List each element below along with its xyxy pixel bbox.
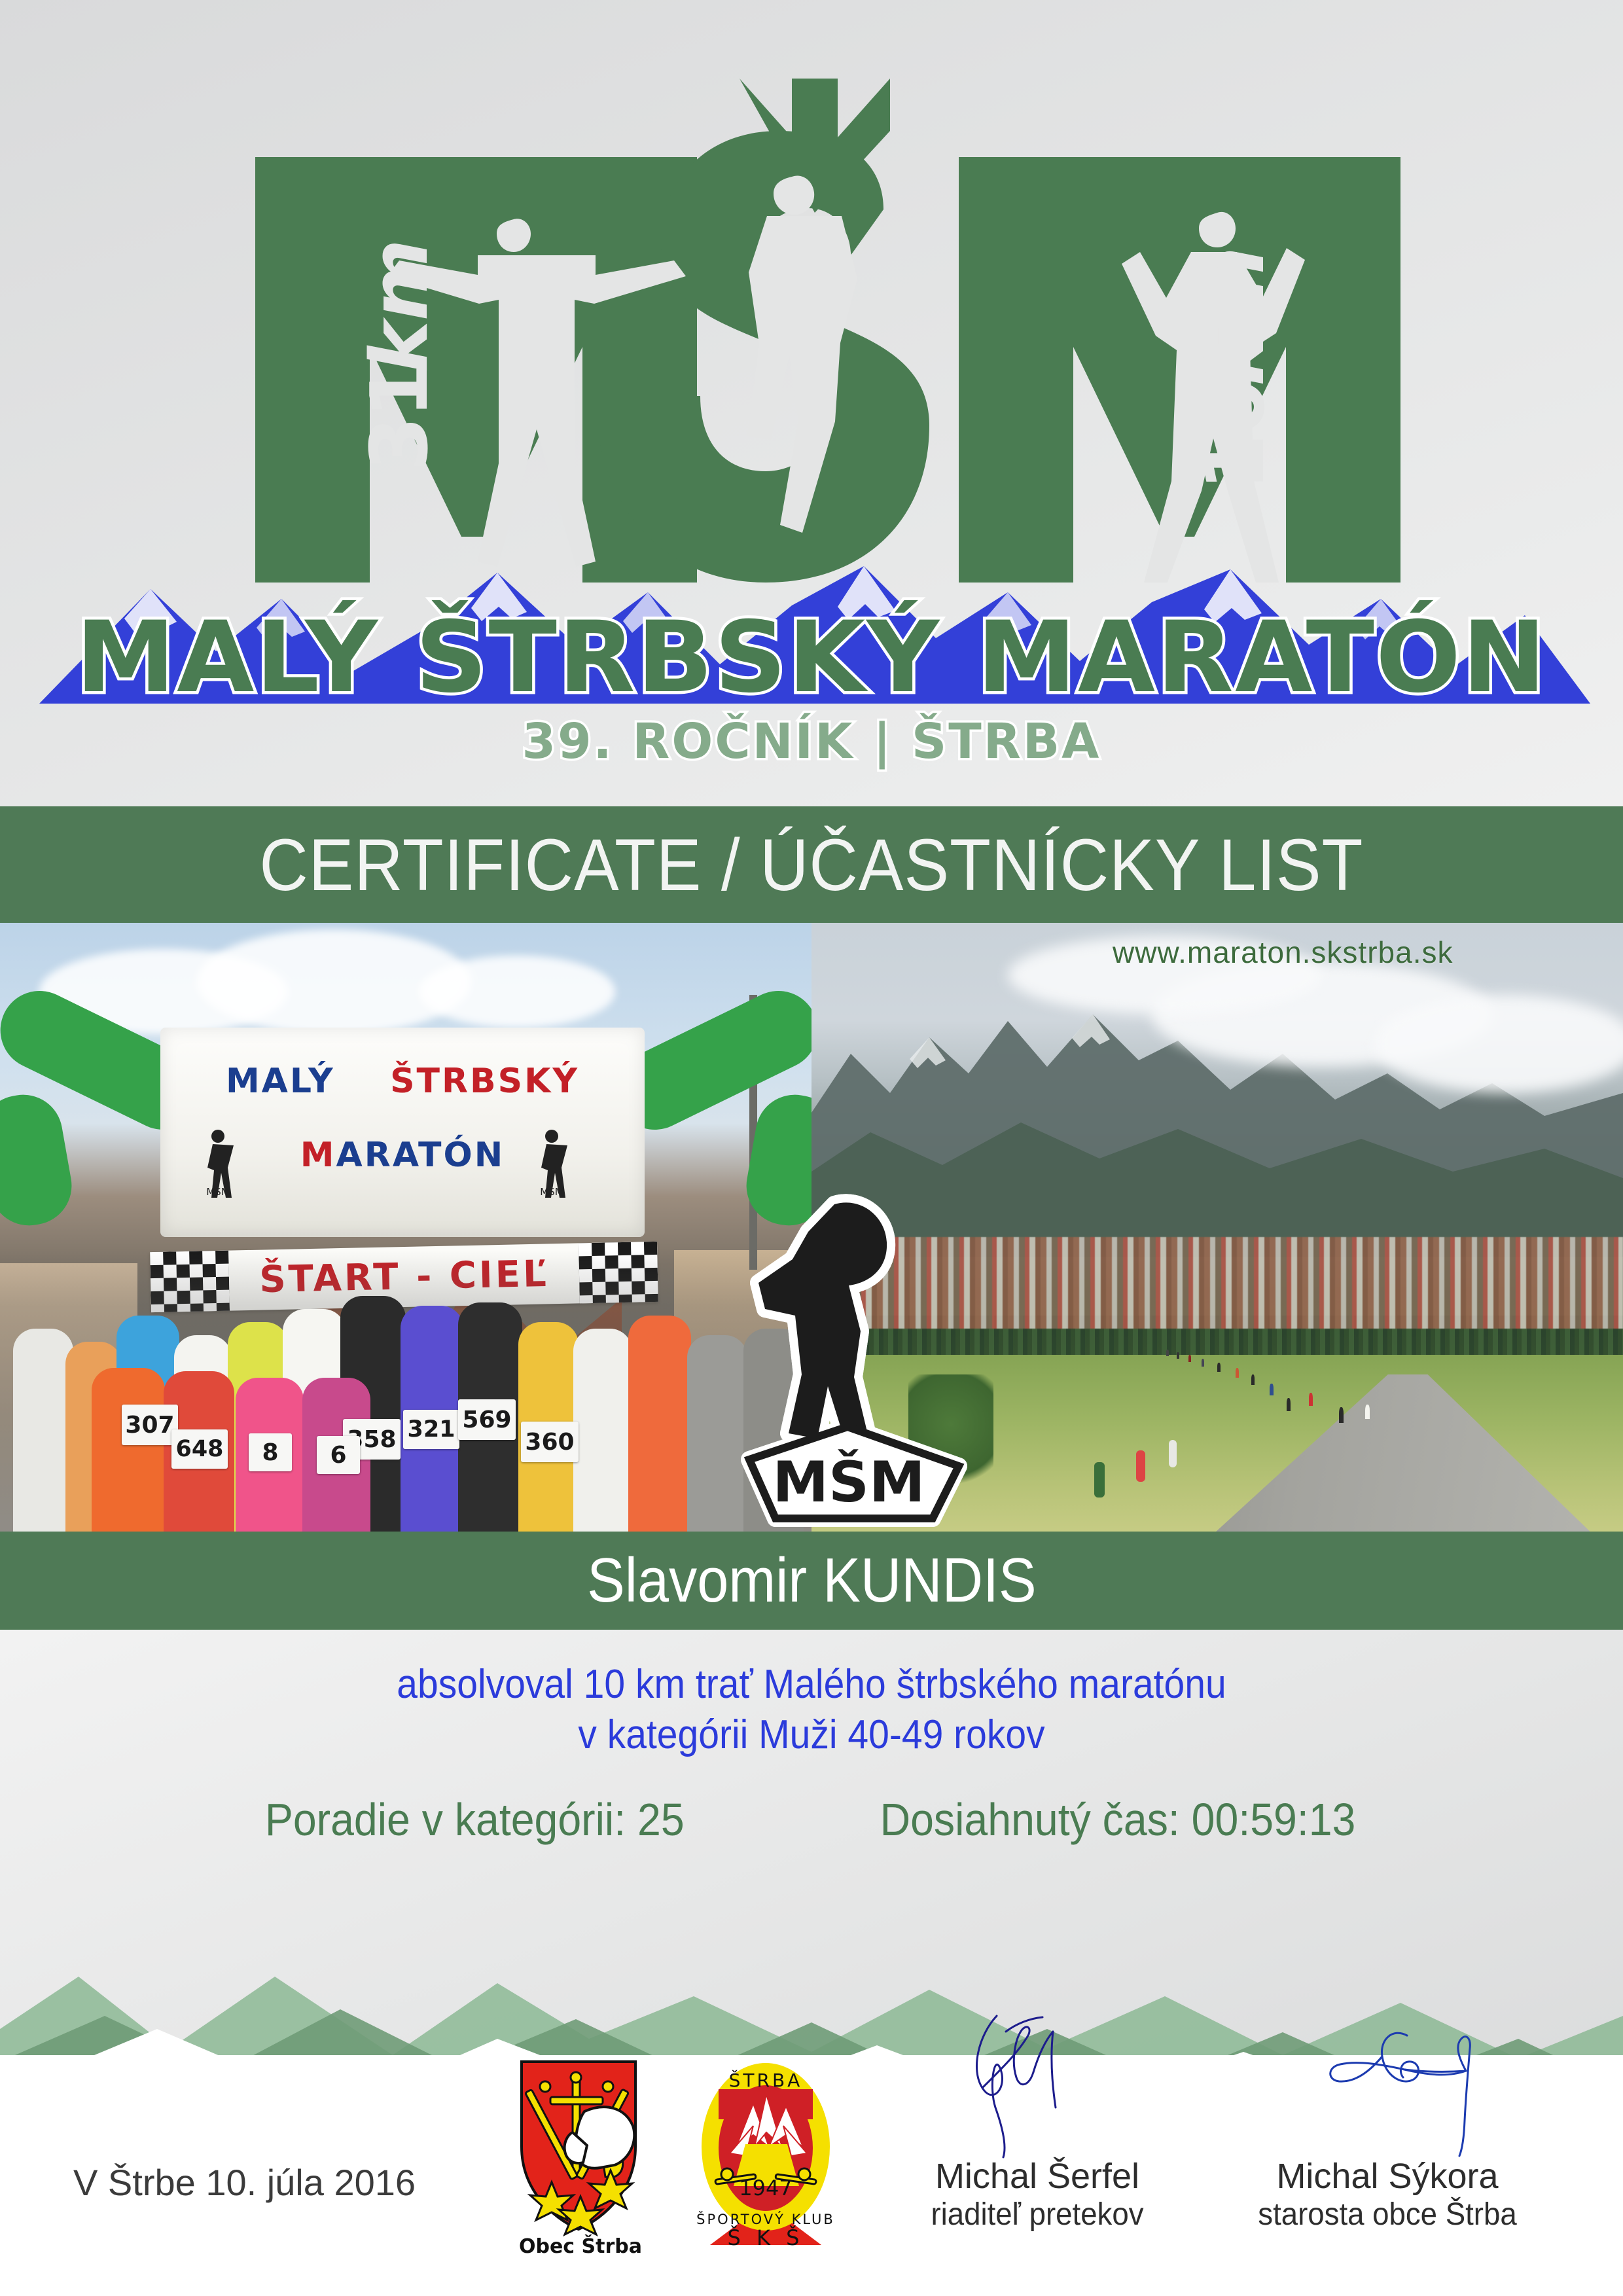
svg-text:31: 31 [355,365,446,471]
certificate-footer: V Štrbe 10. júla 2016 [0,2055,1623,2296]
runner-bib: 569 [458,1399,516,1440]
runner-bib: 321 [403,1410,459,1449]
runner-bib: 360 [521,1422,579,1462]
achievement-line-1: absolvoval 10 km trať Malého štrbského m… [65,1661,1558,1708]
runner-bib: 648 [171,1429,228,1469]
event-title-row: MALÝ ŠTRBSKÝ MARATÓN 39. ROČNÍK | ŠTRBA [0,609,1623,770]
signatory-name: Michal Sýkora [1217,2156,1558,2197]
sks-top-text: ŠTRBA [729,2069,803,2091]
signature-icon-sykora [1217,2009,1558,2160]
finish-time: Dosiahnutý čas: 00:59:13 [880,1793,1356,1846]
msm-wordmark: 31 km 10 km [216,39,1440,583]
athlete-name: Slavomir KUNDIS [587,1545,1037,1617]
issue-date: V Štrbe 10. júla 2016 [73,2161,416,2204]
arch-banner: MALÝ ŠTRBSKÝ MARATÓN MŠM MŠM [160,1028,645,1237]
arch-runner-icon-left: MŠM [201,1126,235,1198]
sks-club-emblem-icon: 1947 ŠTRBA ŠPORTOVÝ KLUB Š K Š [690,2049,841,2258]
header-logo-block: 31 km 10 km MALÝ ŠTRBSKÝ MARATÓN 39. ROČ… [0,0,1623,808]
certificate-title: CERTIFICATE / ÚČASTNÍCKY LIST [259,823,1363,907]
sks-bottom-text: Š K Š [728,2225,804,2250]
arch-runner-icon-right: MŠM [535,1126,569,1198]
arch-banner-line1: MALÝ ŠTRBSKÝ [160,1062,645,1101]
achievement-line-2: v kategórii Muži 40-49 rokov [65,1712,1558,1758]
msm-runner-badge: MŠM [736,1178,972,1532]
event-main-title: MALÝ ŠTRBSKÝ MARATÓN [0,609,1623,707]
inflatable-arch-left-base [0,1088,78,1232]
result-area: absolvoval 10 km trať Malého štrbského m… [0,1630,1623,1905]
svg-text:km: km [355,239,446,373]
runner-bib: 307 [122,1405,178,1445]
obec-strba-caption: Obec Štrba [519,2234,642,2258]
signatory-role: riaditeľ pretekov [876,2197,1199,2233]
start-line-photo: MALÝ ŠTRBSKÝ MARATÓN MŠM MŠM [0,923,811,1532]
svg-text:MŠM: MŠM [206,1185,229,1198]
signature-block-mayor: Michal Sýkora starosta obce Štrba [1217,2009,1558,2233]
signature-icon-serfel [867,2009,1207,2160]
signatory-name: Michal Šerfel [867,2156,1207,2197]
signature-block-race-director: Michal Šerfel riaditeľ pretekov [867,2009,1207,2233]
runner-bib: 8 [249,1433,292,1471]
certificate-title-band: CERTIFICATE / ÚČASTNÍCKY LIST [0,806,1623,923]
runner-bib: 6 [317,1436,360,1474]
svg-text:km: km [1188,247,1283,386]
event-sub-title: 39. ROČNÍK | ŠTRBA [0,713,1623,770]
runner-crowd: 307 358 321 569 648 8 6 360 [0,1250,811,1532]
svg-text:10: 10 [1188,380,1283,491]
event-url: www.maraton.skstrba.sk [1113,935,1453,970]
certificate-page: 31 km 10 km MALÝ ŠTRBSKÝ MARATÓN 39. ROČ… [0,0,1623,2296]
sks-year: 1947 [739,2176,792,2200]
svg-text:MŠM: MŠM [772,1449,925,1515]
category-rank: Poradie v kategórii: 25 [265,1793,685,1846]
signatory-role: starosta obce Štrba [1226,2197,1549,2233]
svg-text:MŠM: MŠM [540,1185,563,1198]
obec-strba-coat-of-arms-icon: Obec Štrba [507,2049,654,2258]
score-row: Poradie v kategórii: 25 Dosiahnutý čas: … [0,1793,1623,1846]
athlete-name-band: Slavomir KUNDIS [0,1532,1623,1630]
